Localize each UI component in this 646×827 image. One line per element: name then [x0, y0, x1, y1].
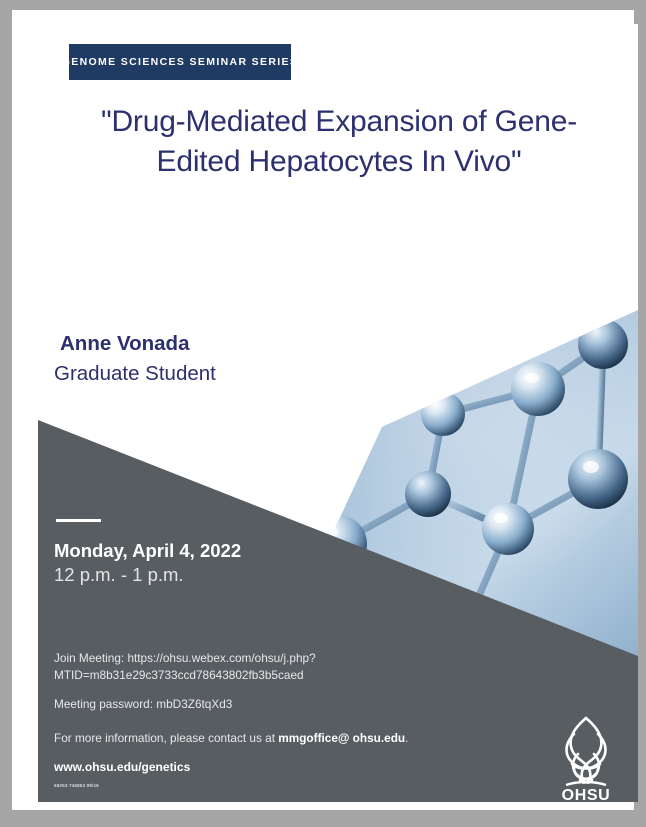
- speaker-role: Graduate Student: [48, 359, 348, 389]
- divider-rule: [56, 519, 101, 522]
- document-code: 66253 746853 09/16: [54, 783, 484, 789]
- contact-email[interactable]: mmgoffice@ ohsu.edu: [278, 731, 405, 745]
- join-meeting-link[interactable]: Join Meeting: https://ohsu.webex.com/ohs…: [54, 650, 484, 684]
- seminar-series-badge: Genome Sciences Seminar Series: [69, 44, 291, 80]
- event-date: Monday, April 4, 2022: [54, 539, 384, 563]
- contact-suffix: .: [405, 731, 408, 745]
- contact-line: For more information, please contact us …: [54, 730, 484, 747]
- seminar-poster: Genome Sciences Seminar Series "Drug-Med…: [38, 24, 638, 802]
- ohsu-logo: OHSU: [550, 714, 622, 802]
- event-time: 12 p.m. - 1 p.m.: [54, 563, 384, 587]
- schedule-block: Monday, April 4, 2022 12 p.m. - 1 p.m.: [54, 539, 384, 587]
- poster-paper-margin: Genome Sciences Seminar Series "Drug-Med…: [12, 10, 634, 810]
- meeting-details: Join Meeting: https://ohsu.webex.com/ohs…: [54, 650, 484, 789]
- speaker-name: Anne Vonada: [48, 329, 348, 359]
- talk-title: "Drug-Mediated Expansion of Gene-Edited …: [74, 102, 604, 181]
- speaker-block: Anne Vonada Graduate Student: [48, 329, 348, 388]
- ohsu-flame-icon: OHSU: [550, 714, 622, 802]
- svg-text:OHSU: OHSU: [562, 787, 611, 802]
- join-meeting-line1: Join Meeting: https://ohsu.webex.com/ohs…: [54, 651, 316, 682]
- page-border: Genome Sciences Seminar Series "Drug-Med…: [0, 0, 646, 827]
- seminar-series-label: Genome Sciences Seminar Series: [62, 56, 299, 68]
- website-link[interactable]: www.ohsu.edu/genetics: [54, 759, 484, 776]
- meeting-password: Meeting password: mbD3Z6tqXd3: [54, 696, 484, 713]
- contact-prefix: For more information, please contact us …: [54, 731, 278, 745]
